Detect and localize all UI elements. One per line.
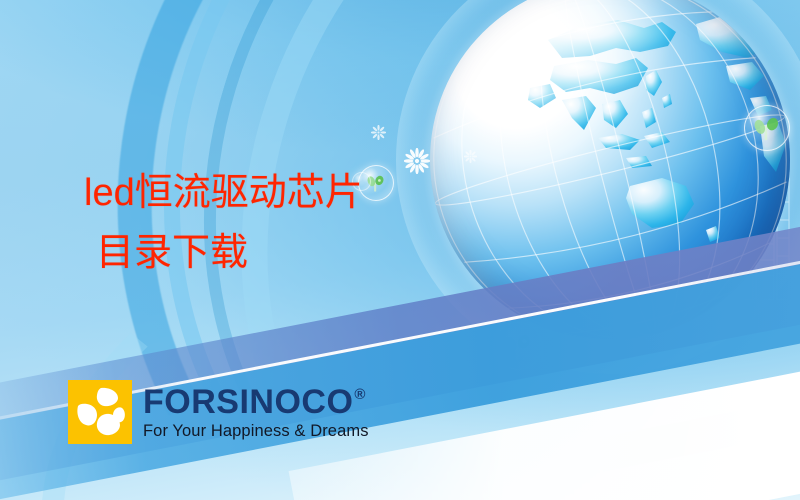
logo-company-name: FORSINOCO ® xyxy=(143,385,369,419)
registered-trademark-icon: ® xyxy=(354,387,366,402)
logo-text-block: FORSINOCO ® For Your Happiness & Dreams xyxy=(143,385,369,440)
logo-tagline: For Your Happiness & Dreams xyxy=(143,423,369,440)
four-petal-flower-icon xyxy=(68,380,132,444)
logo-name-text: FORSINOCO xyxy=(143,385,353,419)
company-logo[interactable]: FORSINOCO ® For Your Happiness & Dreams xyxy=(68,380,369,444)
four-petal-flower-shape xyxy=(68,380,132,444)
headline: led恒流驱动芯片 目录下载 xyxy=(84,163,363,283)
promo-banner: led恒流驱动芯片 目录下载 FORSINOCO ® For Your Happ… xyxy=(0,0,800,500)
headline-line-2: 目录下载 xyxy=(96,223,363,283)
headline-line-1: led恒流驱动芯片 xyxy=(84,163,363,223)
